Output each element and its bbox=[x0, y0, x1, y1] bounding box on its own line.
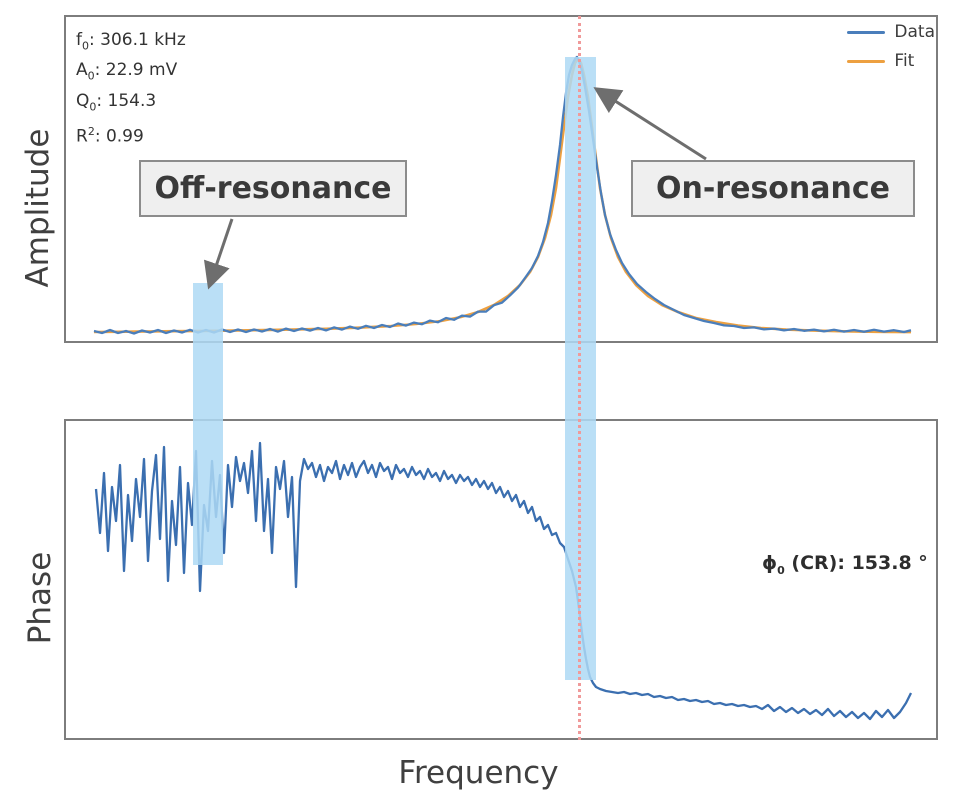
fit-param-a0: A0: 22.9 mV bbox=[76, 58, 186, 88]
fit-param-r2-value: : 0.99 bbox=[95, 127, 144, 147]
phase-at-resonance-annotation: ϕ0 (CR): 153.8 ° bbox=[762, 552, 928, 577]
legend-label-data: Data bbox=[894, 22, 935, 42]
y-axis-label-phase: Phase bbox=[22, 498, 58, 698]
fit-param-q0-symbol: Q bbox=[76, 91, 89, 111]
fit-param-a0-subscript: 0 bbox=[88, 70, 95, 83]
legend-swatch-data bbox=[847, 31, 885, 34]
callout-off-resonance: Off-resonance bbox=[139, 160, 407, 217]
legend-item-data: Data bbox=[847, 22, 935, 42]
phi-symbol: ϕ bbox=[762, 552, 777, 574]
x-axis-label-frequency: Frequency bbox=[0, 755, 957, 791]
fit-param-f0-subscript: 0 bbox=[82, 39, 89, 52]
fit-param-r2-symbol: R bbox=[76, 127, 88, 147]
y-axis-label-amplitude: Amplitude bbox=[20, 108, 56, 308]
fit-param-r2-superscript: 2 bbox=[88, 125, 95, 138]
resonance-frequency-line bbox=[578, 16, 581, 740]
fit-parameters-text: f0: 306.1 kHz A0: 22.9 mV Q0: 154.3 R2: … bbox=[76, 28, 186, 150]
fit-param-a0-symbol: A bbox=[76, 60, 88, 80]
callout-on-resonance: On-resonance bbox=[631, 160, 915, 217]
phi-subscript: 0 bbox=[777, 564, 785, 577]
fit-param-q0: Q0: 154.3 bbox=[76, 89, 186, 119]
fit-param-q0-value: : 154.3 bbox=[96, 91, 156, 111]
fit-param-f0: f0: 306.1 kHz bbox=[76, 28, 186, 58]
fit-param-r2: R2: 0.99 bbox=[76, 119, 186, 150]
legend-item-fit: Fit bbox=[847, 51, 935, 71]
legend-label-fit: Fit bbox=[894, 51, 914, 71]
fit-param-a0-value: : 22.9 mV bbox=[95, 60, 178, 80]
legend-swatch-fit bbox=[847, 60, 885, 63]
figure-canvas: Amplitude Phase Frequency f0: 306.1 kHz … bbox=[0, 0, 957, 811]
phi-value: (CR): 153.8 ° bbox=[785, 552, 928, 574]
fit-param-f0-value: : 306.1 kHz bbox=[89, 30, 186, 50]
plot-legend: Data Fit bbox=[847, 22, 935, 71]
highlight-band-off-resonance bbox=[193, 283, 223, 565]
